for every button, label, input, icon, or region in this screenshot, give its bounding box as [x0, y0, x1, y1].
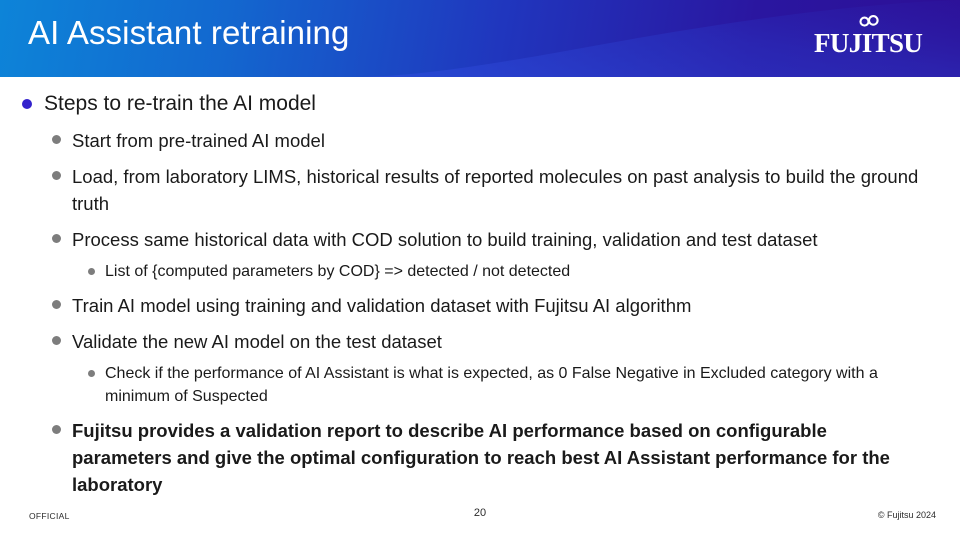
bullet-level2: Load, from laboratory LIMS, historical r…	[52, 163, 928, 217]
bullet-text: Start from pre-trained AI model	[72, 127, 325, 154]
bullet-level2: Train AI model using training and valida…	[52, 292, 928, 319]
slide-footer: OFFICIAL 20 © Fujitsu 2024	[0, 505, 960, 531]
bullet-marker-icon	[52, 336, 61, 345]
bullet-marker-icon	[88, 370, 95, 377]
bullet-text: Load, from laboratory LIMS, historical r…	[72, 163, 920, 217]
svg-text:FUJITSU: FUJITSU	[814, 28, 922, 58]
bullet-marker-icon	[52, 425, 61, 434]
slide-body: Steps to re-train the AI model Start fro…	[0, 77, 960, 497]
bullet-text: Steps to re-train the AI model	[44, 90, 316, 118]
bullet-text: Fujitsu provides a validation report to …	[72, 417, 920, 498]
slide-header: AI Assistant retraining FUJITSU	[0, 0, 960, 77]
bullet-text: Process same historical data with COD so…	[72, 226, 818, 253]
bullet-text: Validate the new AI model on the test da…	[72, 328, 442, 355]
bullet-level2: Validate the new AI model on the test da…	[52, 328, 928, 355]
bullet-marker-icon	[52, 135, 61, 144]
bullet-marker-icon	[88, 268, 95, 275]
bullet-text: List of {computed parameters by COD} => …	[105, 260, 570, 283]
bullet-marker-icon	[22, 99, 32, 109]
copyright-notice: © Fujitsu 2024	[878, 510, 936, 520]
bullet-marker-icon	[52, 171, 61, 180]
fujitsu-logo: FUJITSU	[808, 13, 936, 61]
slide: AI Assistant retraining FUJITSU Steps to…	[0, 0, 960, 540]
bullet-text: Check if the performance of AI Assistant…	[105, 362, 895, 408]
bullet-level2: Process same historical data with COD so…	[52, 226, 928, 253]
bullet-text: Train AI model using training and valida…	[72, 292, 691, 319]
page-title: AI Assistant retraining	[28, 14, 349, 52]
bullet-level2-emphasis: Fujitsu provides a validation report to …	[52, 417, 928, 498]
bullet-level1: Steps to re-train the AI model	[22, 90, 960, 118]
bullet-level2: Start from pre-trained AI model	[52, 127, 928, 154]
bullet-level3: List of {computed parameters by COD} => …	[88, 260, 928, 283]
page-number: 20	[0, 507, 960, 519]
bullet-level3: Check if the performance of AI Assistant…	[88, 362, 928, 408]
bullet-marker-icon	[52, 234, 61, 243]
bullet-marker-icon	[52, 300, 61, 309]
